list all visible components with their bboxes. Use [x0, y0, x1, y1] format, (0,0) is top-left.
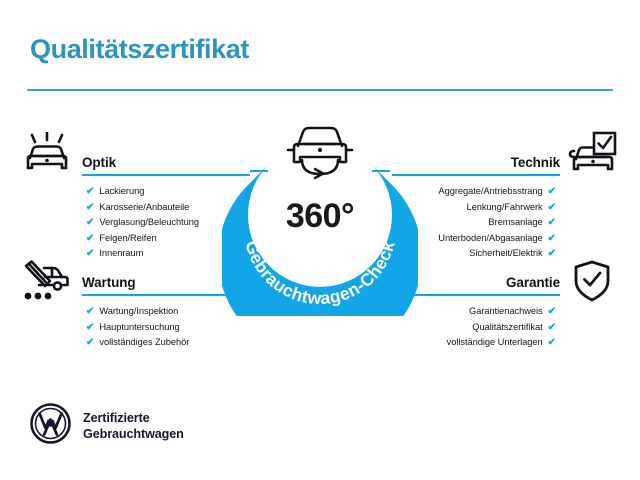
- list-item-label: Karosserie/Anbauteile: [99, 202, 189, 212]
- car-service-pen-icon: [20, 258, 72, 309]
- check-icon: ✔: [548, 322, 556, 333]
- list-item: ✔Felgen/Reifen: [86, 231, 250, 247]
- check-icon: ✔: [86, 202, 94, 213]
- list-item-label: Verglasung/Beleuchtung: [99, 217, 199, 227]
- list-item-label: Aggregate/Antriebsstrang: [438, 186, 542, 196]
- check-icon: ✔: [86, 248, 94, 259]
- list-item: ✔Verglasung/Beleuchtung: [86, 215, 250, 231]
- list-item: ✔Wartung/Inspektion: [86, 304, 250, 320]
- section-technik-divider: [392, 174, 560, 176]
- badge-degrees-label: 360°: [222, 120, 418, 316]
- list-item: Qualitätszertifikat✔: [392, 320, 556, 336]
- section-garantie-list: Garantienachweis✔ Qualitätszertifikat✔ v…: [392, 304, 556, 351]
- section-wartung-divider: [82, 294, 250, 296]
- list-item-label: Sicherheit/Elektrik: [469, 248, 542, 258]
- check-icon: ✔: [86, 306, 94, 317]
- list-item: ✔Innenraum: [86, 246, 250, 262]
- check-icon: ✔: [548, 202, 556, 213]
- section-optik-header: Optik: [82, 146, 250, 172]
- section-optik-list: ✔Lackierung ✔Karosserie/Anbauteile ✔Verg…: [86, 184, 250, 262]
- list-item-label: vollständige Unterlagen: [447, 337, 543, 347]
- shield-check-icon: [572, 259, 612, 308]
- section-optik: Optik ✔Lackierung ✔Karosserie/Anbauteile…: [82, 146, 250, 262]
- footer-line-2: Gebrauchtwagen: [83, 426, 184, 442]
- section-garantie-divider: [392, 294, 560, 296]
- list-item-label: Unterboden/Abgasanlage: [438, 233, 542, 243]
- check-icon: ✔: [548, 233, 556, 244]
- vw-logo-icon: [30, 403, 71, 449]
- list-item: Lenkung/Fahrwerk✔: [392, 200, 556, 216]
- badge-360-gebrauchtwagen-check: Gebrauchtwagen-Check 360°: [222, 120, 418, 316]
- section-wartung-title: Wartung: [82, 275, 136, 290]
- section-garantie: Garantie Garantienachweis✔ Qualitätszert…: [392, 266, 560, 351]
- list-item-label: Innenraum: [99, 248, 143, 258]
- list-item-label: vollständiges Zubehör: [99, 337, 189, 347]
- list-item-label: Bremsanlage: [488, 217, 542, 227]
- check-icon: ✔: [86, 322, 94, 333]
- check-icon: ✔: [548, 186, 556, 197]
- check-icon: ✔: [86, 337, 94, 348]
- check-icon: ✔: [548, 306, 556, 317]
- list-item-label: Lackierung: [99, 186, 144, 196]
- list-item-label: Garantienachweis: [469, 306, 543, 316]
- title-divider: [27, 89, 613, 91]
- footer-brand: Zertifizierte Gebrauchtwagen: [30, 403, 184, 449]
- list-item: Sicherheit/Elektrik✔: [392, 246, 556, 262]
- car-checkbox-icon: [566, 131, 618, 180]
- certificate-page: Qualitätszertifikat: [0, 0, 640, 480]
- car-shine-icon: [22, 132, 72, 181]
- section-wartung-list: ✔Wartung/Inspektion ✔Hauptuntersuchung ✔…: [86, 304, 250, 351]
- list-item-label: Felgen/Reifen: [99, 233, 156, 243]
- section-optik-title: Optik: [82, 155, 116, 170]
- section-technik-list: Aggregate/Antriebsstrang✔ Lenkung/Fahrwe…: [392, 184, 556, 262]
- list-item: ✔Hauptuntersuchung: [86, 320, 250, 336]
- check-icon: ✔: [86, 186, 94, 197]
- section-wartung-header: Wartung: [82, 266, 250, 292]
- list-item-label: Qualitätszertifikat: [472, 322, 542, 332]
- section-technik-title: Technik: [511, 155, 560, 170]
- list-item-label: Hauptuntersuchung: [99, 322, 179, 332]
- section-garantie-title: Garantie: [506, 275, 560, 290]
- list-item: Bremsanlage✔: [392, 215, 556, 231]
- section-wartung: Wartung ✔Wartung/Inspektion ✔Hauptunters…: [82, 266, 250, 351]
- list-item-label: Wartung/Inspektion: [99, 306, 178, 316]
- check-icon: ✔: [86, 217, 94, 228]
- section-optik-divider: [82, 174, 250, 176]
- check-icon: ✔: [548, 217, 556, 228]
- check-icon: ✔: [548, 337, 556, 348]
- list-item: vollständige Unterlagen✔: [392, 335, 556, 351]
- footer-line-1: Zertifizierte: [83, 410, 184, 426]
- list-item: Garantienachweis✔: [392, 304, 556, 320]
- section-technik: Technik Aggregate/Antriebsstrang✔ Lenkun…: [392, 146, 560, 262]
- section-technik-header: Technik: [392, 146, 560, 172]
- list-item: ✔Lackierung: [86, 184, 250, 200]
- page-title: Qualitätszertifikat: [30, 34, 249, 65]
- list-item: ✔vollständiges Zubehör: [86, 335, 250, 351]
- section-garantie-header: Garantie: [392, 266, 560, 292]
- check-icon: ✔: [86, 233, 94, 244]
- list-item: Aggregate/Antriebsstrang✔: [392, 184, 556, 200]
- footer-text: Zertifizierte Gebrauchtwagen: [83, 410, 184, 442]
- check-icon: ✔: [548, 248, 556, 259]
- list-item: Unterboden/Abgasanlage✔: [392, 231, 556, 247]
- list-item-label: Lenkung/Fahrwerk: [466, 202, 542, 212]
- list-item: ✔Karosserie/Anbauteile: [86, 200, 250, 216]
